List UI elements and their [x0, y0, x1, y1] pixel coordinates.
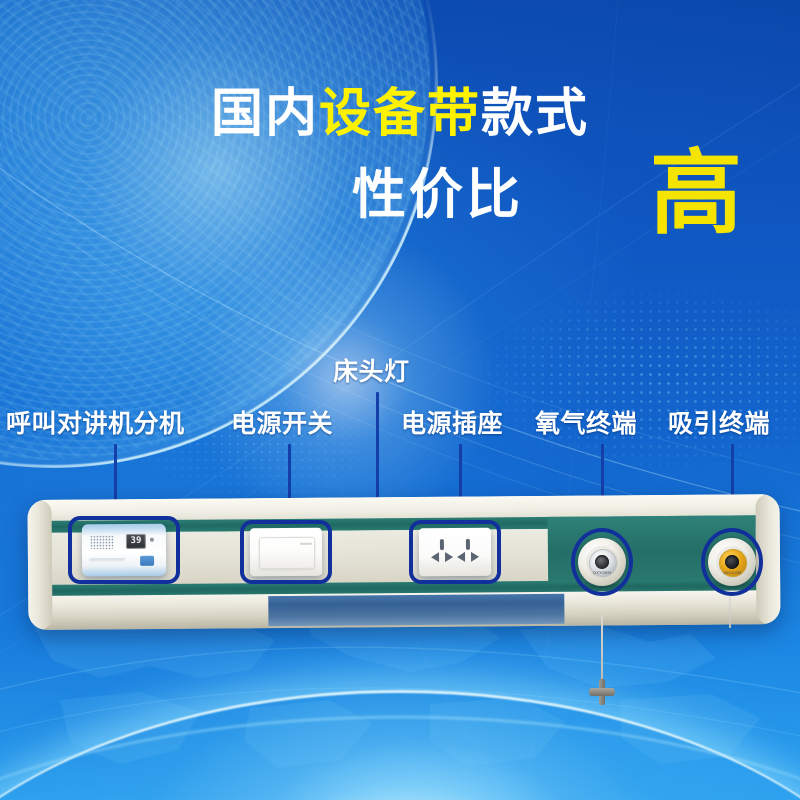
hose-cross-connector	[589, 679, 615, 705]
highlight-box-switch	[240, 520, 332, 584]
callout-label-oxygen-terminal: 氧气终端	[535, 412, 637, 437]
panel-end-cap-left	[27, 500, 52, 630]
headline-part-2: 设备带	[319, 85, 481, 143]
headline-line-2: 性价比	[352, 168, 523, 222]
highlight-box-intercom	[68, 516, 180, 584]
highlight-circle-suction	[701, 528, 763, 596]
highlight-circle-oxygen	[571, 528, 633, 596]
halftone-dots-right	[430, 280, 800, 470]
product-banner: 国内设备带款式 性价比 高 呼叫对讲机分机 电源开关 床头灯 电源插座 氧气终端…	[0, 0, 800, 800]
headline-part-3: 款式	[481, 85, 589, 143]
headline-line-1: 国内设备带款式	[0, 88, 800, 140]
headline-part-1: 国内	[211, 85, 319, 143]
panel-tube-insert	[268, 594, 564, 626]
callout-label-power-switch: 电源开关	[231, 412, 333, 437]
hanging-hose	[601, 615, 603, 687]
highlight-box-socket	[409, 520, 501, 584]
terminal-cord	[729, 592, 731, 628]
callout-label-bedside-lamp: 床头灯	[333, 360, 410, 385]
callout-label-call-intercom-extension: 呼叫对讲机分机	[6, 412, 185, 437]
headline-emphasis-gao: 高	[650, 148, 742, 240]
callout-label-suction-terminal: 吸引终端	[668, 412, 770, 437]
horizon-glow	[120, 690, 680, 800]
hose-cross-horizontal	[589, 688, 615, 696]
callout-label-power-socket: 电源插座	[401, 412, 503, 437]
